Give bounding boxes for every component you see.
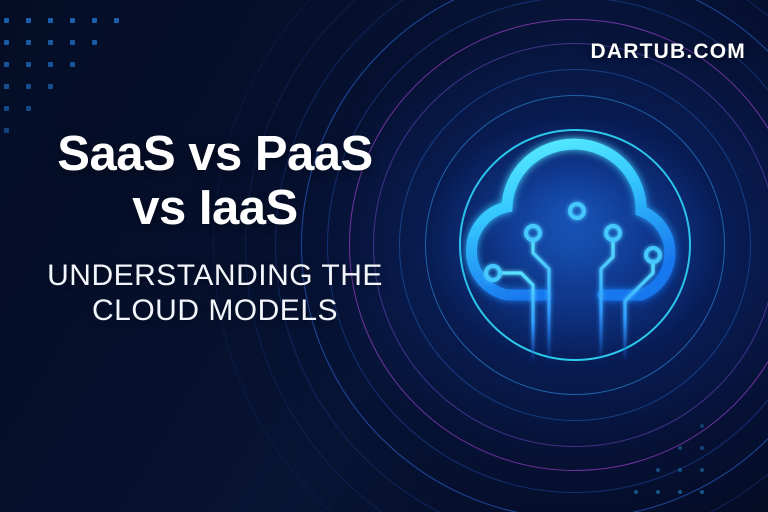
grid-dot	[70, 40, 75, 45]
subtitle-line-2: CLOUD MODELS	[0, 293, 430, 328]
grid-dot	[48, 62, 53, 67]
grid-dot	[656, 468, 660, 472]
grid-dot	[26, 62, 31, 67]
page-subtitle: UNDERSTANDING THE CLOUD MODELS	[0, 258, 430, 329]
grid-dot	[700, 424, 704, 428]
grid-dot	[26, 84, 31, 89]
grid-dot	[92, 18, 97, 23]
poster-canvas: DARTUB.COM SaaS vs PaaS vs IaaS UNDERSTA…	[0, 0, 768, 512]
grid-dot	[678, 468, 682, 472]
cloud-circuit-icon	[445, 133, 705, 363]
grid-dot	[4, 62, 9, 67]
grid-dot	[92, 40, 97, 45]
grid-dot	[70, 18, 75, 23]
grid-dot	[26, 18, 31, 23]
subtitle-line-1: UNDERSTANDING THE	[0, 258, 430, 293]
title-line-2: vs IaaS	[0, 182, 430, 236]
grid-dot	[678, 446, 682, 450]
grid-dot	[26, 106, 31, 111]
grid-dot	[700, 490, 704, 494]
grid-dot	[678, 490, 682, 494]
grid-dot	[48, 84, 53, 89]
grid-dot	[26, 40, 31, 45]
grid-dot	[700, 446, 704, 450]
grid-dot	[70, 62, 75, 67]
grid-dot	[4, 18, 9, 23]
grid-dot	[4, 40, 9, 45]
grid-dot	[48, 18, 53, 23]
grid-dot	[634, 490, 638, 494]
brand-wordmark: DARTUB.COM	[591, 40, 746, 64]
hero-text-block: SaaS vs PaaS vs IaaS UNDERSTANDING THE C…	[0, 128, 430, 329]
grid-dot	[114, 18, 119, 23]
title-line-1: SaaS vs PaaS	[0, 128, 430, 182]
grid-dot	[656, 490, 660, 494]
grid-dot	[48, 40, 53, 45]
grid-dot	[700, 468, 704, 472]
grid-dot	[4, 106, 9, 111]
page-title: SaaS vs PaaS vs IaaS	[0, 128, 430, 236]
grid-dot	[4, 84, 9, 89]
